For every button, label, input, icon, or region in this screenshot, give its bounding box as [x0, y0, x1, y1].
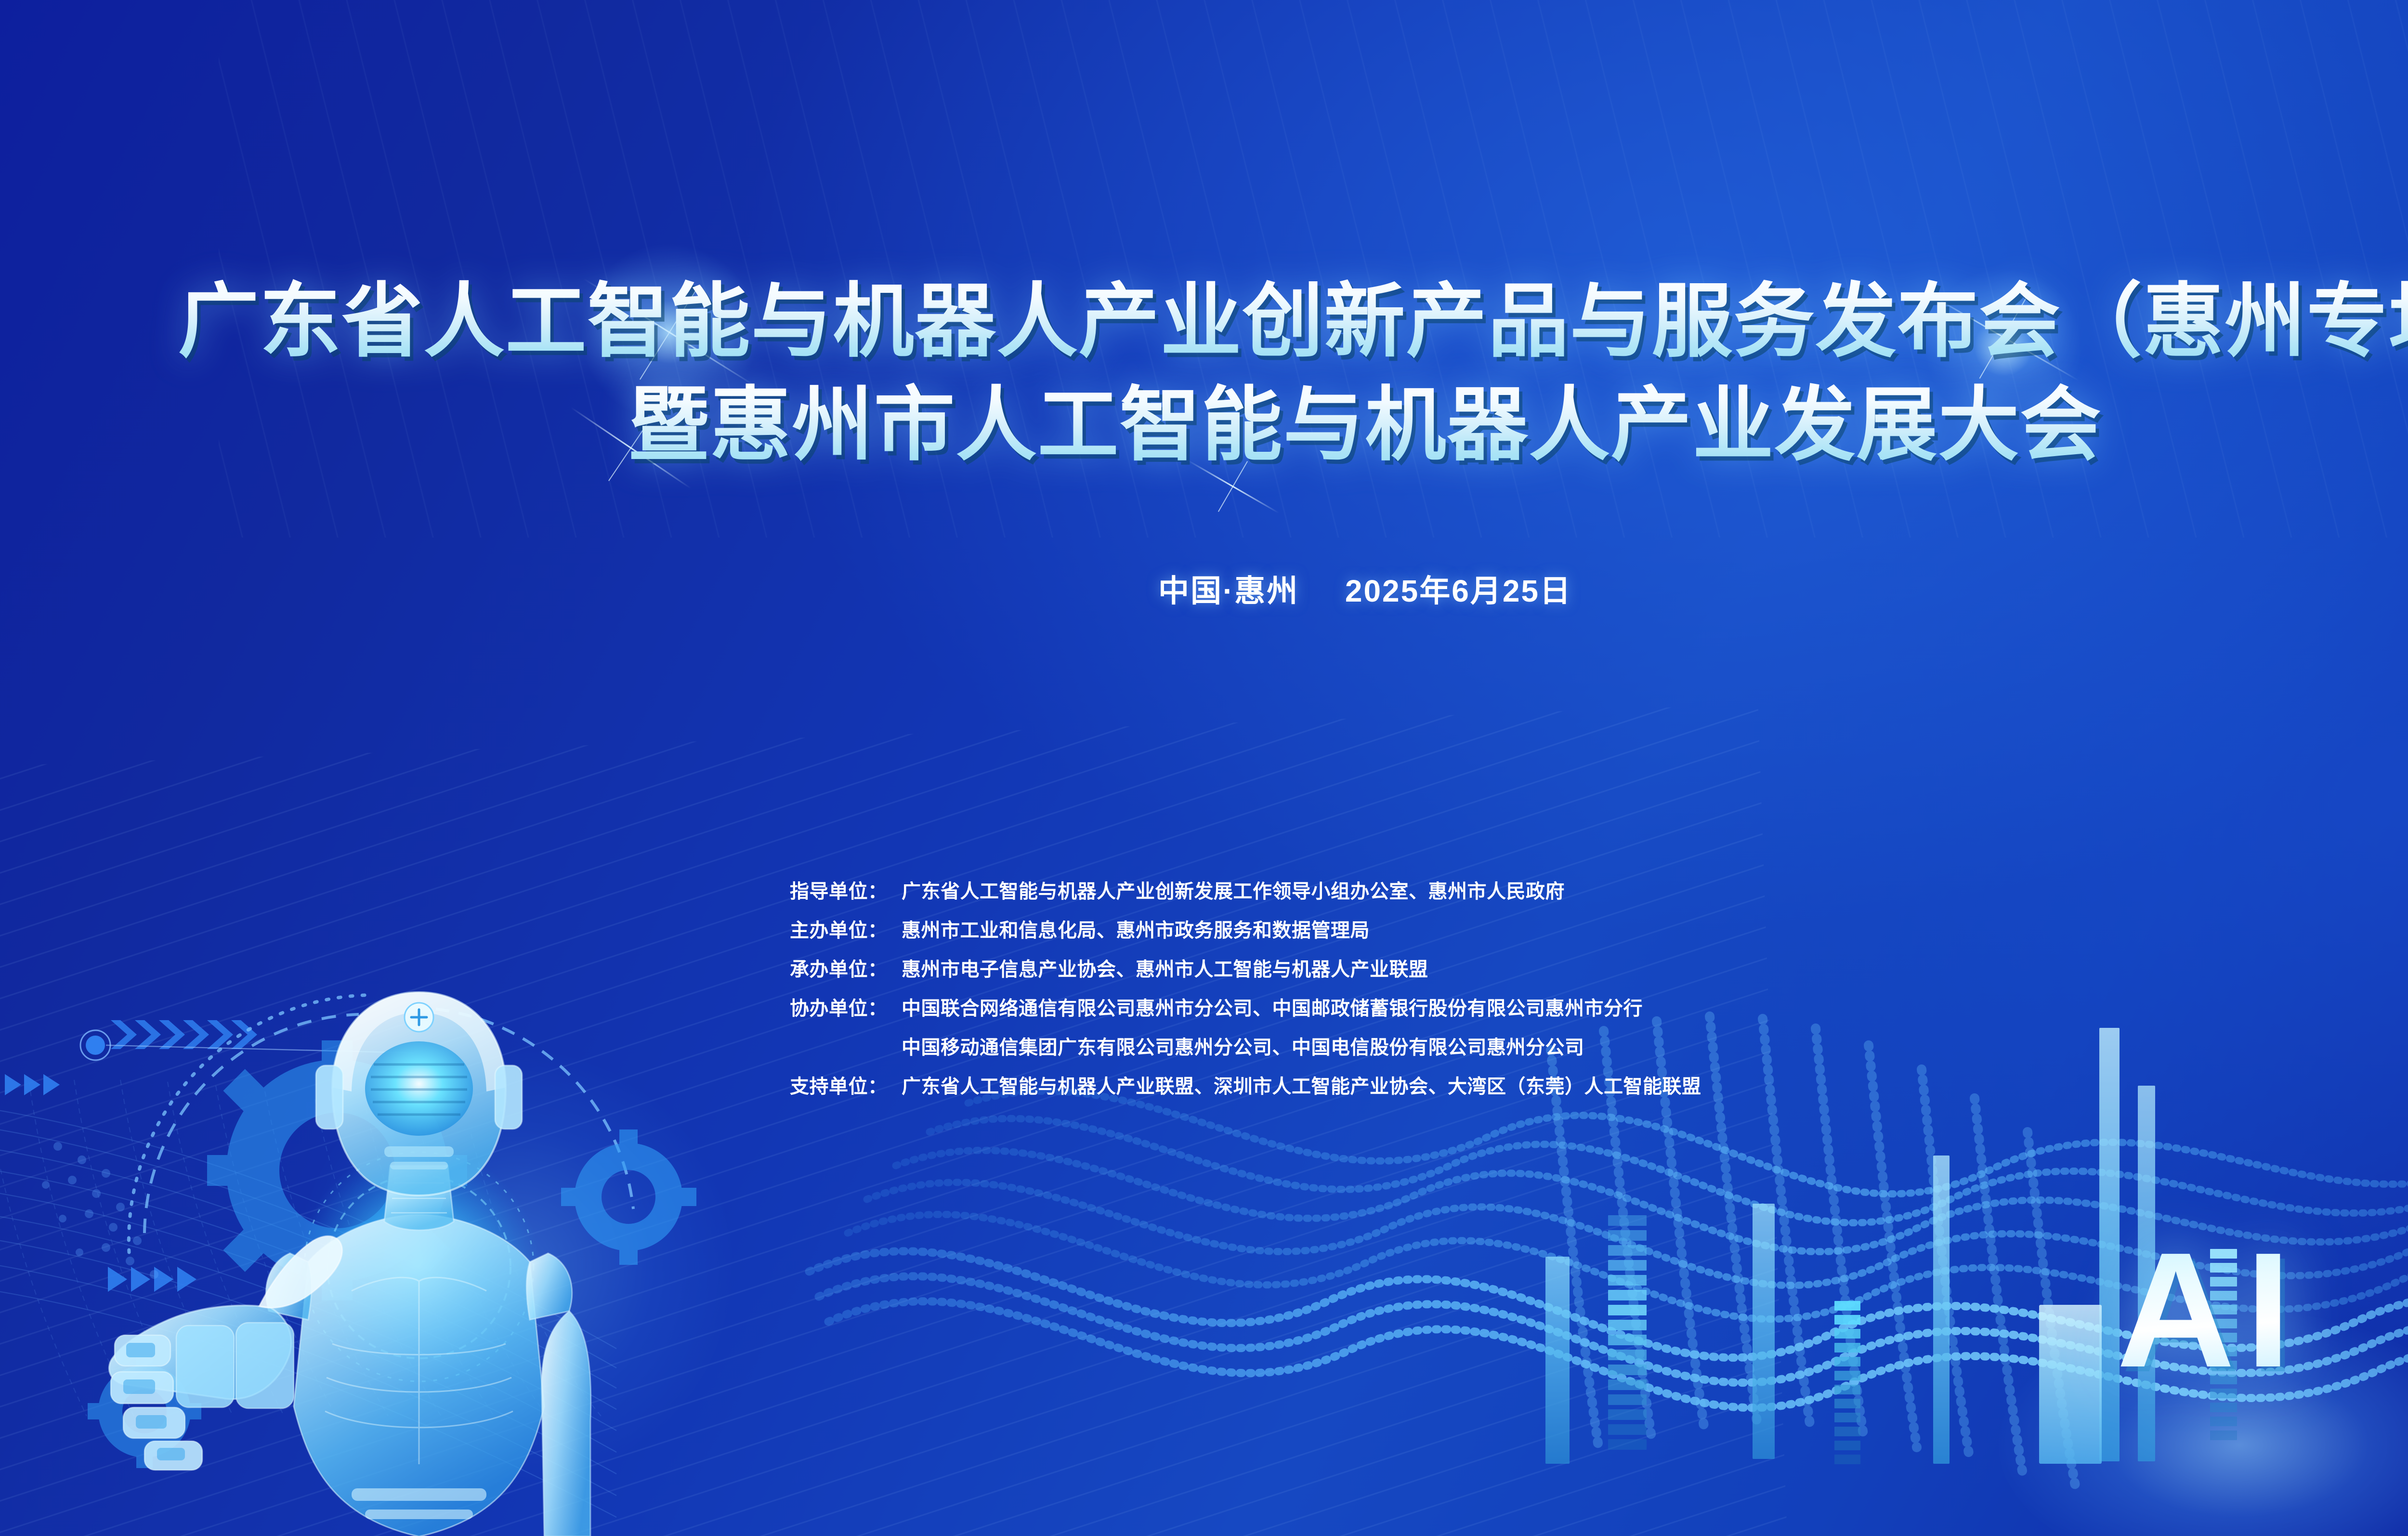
- organizer-row: 协办单位： 中国联合网络通信有限公司惠州市分公司、中国邮政储蓄银行股份有限公司惠…: [790, 993, 1701, 1021]
- organizer-row: 主办单位： 惠州市工业和信息化局、惠州市政务服务和数据管理局: [790, 915, 1701, 943]
- event-date: 2025年6月25日: [1345, 574, 1572, 608]
- page-title-line-2: 暨惠州市人工智能与机器人产业发展大会: [0, 373, 2408, 477]
- organizer-value: 中国联合网络通信有限公司惠州市分公司、中国邮政储蓄银行股份有限公司惠州市分行: [902, 993, 1643, 1021]
- organizer-row-continuation: 协办单位： 中国移动通信集团广东有限公司惠州分公司、中国电信股份有限公司惠州分公…: [790, 1032, 1701, 1060]
- event-location-date: 中国·惠州 2025年6月25日: [0, 566, 2408, 611]
- robot-crown-emblem: [405, 1003, 433, 1032]
- organizer-label: 指导单位：: [790, 876, 902, 904]
- organizer-label: 协办单位：: [790, 993, 902, 1021]
- organizer-label: 主办单位：: [790, 915, 902, 943]
- poster-canvas: AI 广东省人工智能与机器人产业创新产品与服务发布会（惠州专场） 暨惠州市人工智…: [0, 0, 2408, 1536]
- solid-bar: [1933, 1155, 1950, 1464]
- organizer-value: 惠州市电子信息产业协会、惠州市人工智能与机器人产业联盟: [902, 954, 1428, 982]
- solid-bar: [2039, 1305, 2102, 1464]
- organizer-row: 承办单位： 惠州市电子信息产业协会、惠州市人工智能与机器人产业联盟: [790, 954, 1701, 982]
- robot-figure: [82, 896, 727, 1536]
- organizer-value: 惠州市工业和信息化局、惠州市政务服务和数据管理局: [902, 915, 1370, 943]
- ai-brand-mark: AI: [2117, 1216, 2302, 1405]
- headline-block: 广东省人工智能与机器人产业创新产品与服务发布会（惠州专场） 暨惠州市人工智能与机…: [0, 270, 2408, 477]
- event-location: 中国·惠州: [1158, 574, 1299, 608]
- solid-bar: [1753, 1204, 1775, 1459]
- organizer-row: 支持单位： 广东省人工智能与机器人产业联盟、深圳市人工智能产业协会、大湾区（东莞…: [790, 1071, 1701, 1099]
- organizer-label: 承办单位：: [790, 954, 902, 982]
- solid-bar: [1545, 1257, 1570, 1464]
- page-title-line-1: 广东省人工智能与机器人产业创新产品与服务发布会（惠州专场）: [0, 270, 2408, 373]
- segmented-bar: [1834, 1301, 1860, 1469]
- organizer-value: 中国移动通信集团广东有限公司惠州分公司、中国电信股份有限公司惠州分公司: [902, 1032, 1584, 1060]
- segmented-bar: [1608, 1215, 1647, 1454]
- organizers-block: 指导单位： 广东省人工智能与机器人产业创新发展工作领导小组办公室、惠州市人民政府…: [790, 876, 1701, 1110]
- organizer-value: 广东省人工智能与机器人产业创新发展工作领导小组办公室、惠州市人民政府: [902, 876, 1565, 904]
- organizer-value: 广东省人工智能与机器人产业联盟、深圳市人工智能产业协会、大湾区（东莞）人工智能联…: [902, 1071, 1701, 1099]
- organizer-label: 支持单位：: [790, 1071, 902, 1099]
- organizer-row: 指导单位： 广东省人工智能与机器人产业创新发展工作领导小组办公室、惠州市人民政府: [790, 876, 1701, 904]
